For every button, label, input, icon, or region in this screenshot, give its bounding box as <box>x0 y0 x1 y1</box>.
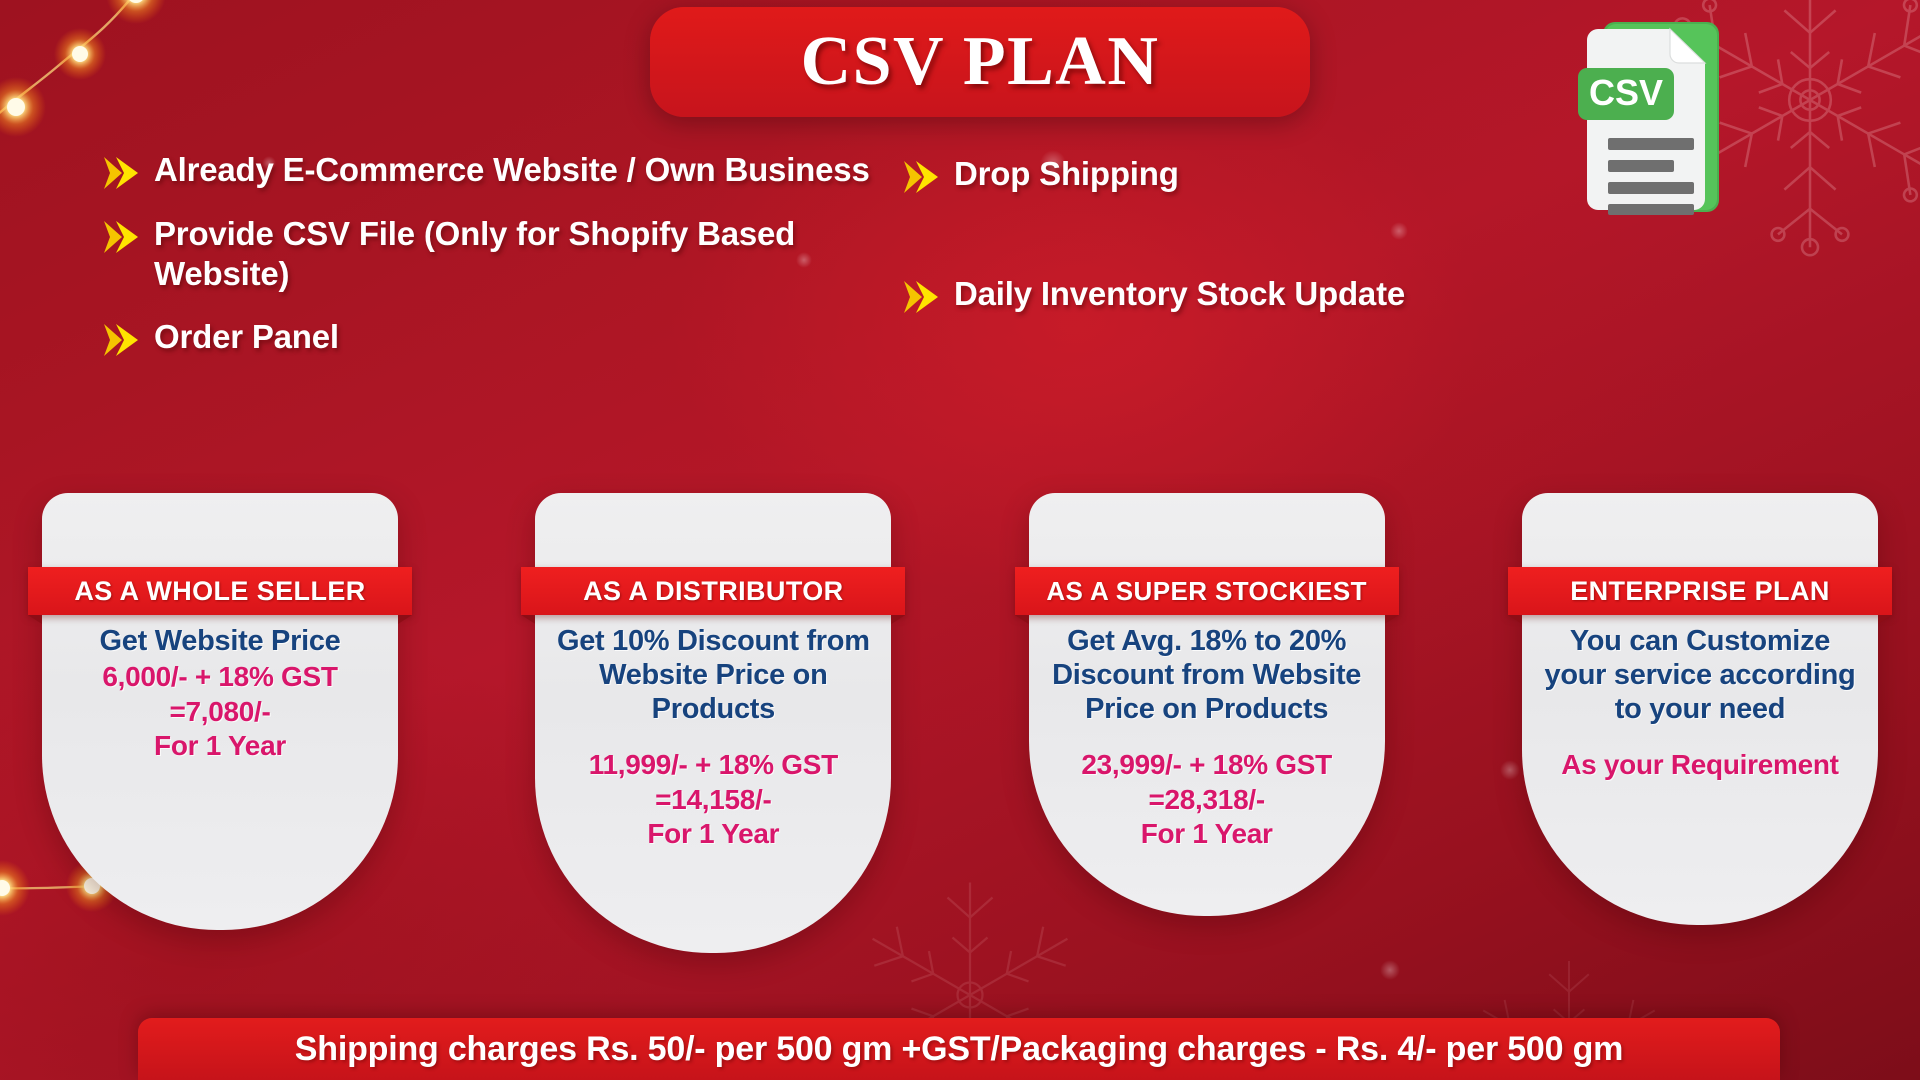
csv-badge-label: CSV <box>1589 72 1663 113</box>
plan-ribbon-label: AS A SUPER STOCKIEST <box>1046 576 1367 607</box>
plan-price-line: =14,158/- <box>549 784 877 817</box>
plan-ribbon-label: AS A DISTRIBUTOR <box>583 576 843 607</box>
feature-list: Already E-Commerce Website / Own Busines… <box>100 150 1700 394</box>
page-title: CSV PLAN <box>801 22 1160 102</box>
footer-bar: Shipping charges Rs. 50/- per 500 gm +GS… <box>138 1018 1780 1080</box>
double-chevron-right-icon <box>100 218 140 256</box>
plan-ribbon: ENTERPRISE PLAN <box>1508 567 1892 615</box>
bokeh-dot <box>1380 960 1400 980</box>
plan-card-list: AS A WHOLE SELLER Get Website Price 6,00… <box>0 493 1920 963</box>
plan-card-body: Get 10% Discount from Website Price on P… <box>535 625 891 851</box>
plan-price-line: 23,999/- + 18% GST <box>1043 749 1371 782</box>
plan-ribbon: AS A DISTRIBUTOR <box>521 567 905 615</box>
plan-price-line: As your Requirement <box>1536 749 1864 782</box>
plan-ribbon-label: ENTERPRISE PLAN <box>1570 576 1830 607</box>
plan-card-body: You can Customize your service according… <box>1522 625 1878 782</box>
plan-ribbon-label: AS A WHOLE SELLER <box>74 576 365 607</box>
page-title-banner: CSV PLAN <box>650 7 1310 117</box>
plan-headline: You can Customize your service according… <box>1536 625 1864 727</box>
feature-item: Drop Shipping <box>900 154 1720 196</box>
poster-canvas: CSV PLAN CSV <box>0 0 1920 1080</box>
feature-item: Provide CSV File (Only for Shopify Based… <box>100 214 880 295</box>
feature-item: Already E-Commerce Website / Own Busines… <box>100 150 880 192</box>
plan-card-body: Get Website Price 6,000/- + 18% GST =7,0… <box>42 625 398 763</box>
footer-text: Shipping charges Rs. 50/- per 500 gm +GS… <box>295 1030 1623 1069</box>
plan-price-line: For 1 Year <box>549 818 877 851</box>
plan-ribbon: AS A SUPER STOCKIEST <box>1015 567 1399 615</box>
plan-headline: Get Avg. 18% to 20% Discount from Websit… <box>1043 625 1371 727</box>
plan-price-line: For 1 Year <box>56 730 384 763</box>
double-chevron-right-icon <box>900 278 940 316</box>
plan-price-line: 11,999/- + 18% GST <box>549 749 877 782</box>
plan-card-super-stockiest[interactable]: AS A SUPER STOCKIEST Get Avg. 18% to 20%… <box>1029 493 1385 916</box>
double-chevron-right-icon <box>100 154 140 192</box>
feature-label: Drop Shipping <box>954 154 1179 194</box>
plan-price-line: 6,000/- + 18% GST <box>56 661 384 694</box>
plan-headline: Get Website Price <box>56 625 384 659</box>
double-chevron-right-icon <box>100 321 140 359</box>
plan-card-whole-seller[interactable]: AS A WHOLE SELLER Get Website Price 6,00… <box>42 493 398 930</box>
plan-card-body: Get Avg. 18% to 20% Discount from Websit… <box>1029 625 1385 851</box>
plan-price-line: For 1 Year <box>1043 818 1371 851</box>
feature-item: Order Panel <box>100 317 880 359</box>
plan-price-line: =7,080/- <box>56 696 384 729</box>
feature-item: Daily Inventory Stock Update <box>900 274 1720 316</box>
plan-card-enterprise[interactable]: ENTERPRISE PLAN You can Customize your s… <box>1522 493 1878 925</box>
plan-price-line: =28,318/- <box>1043 784 1371 817</box>
feature-label: Provide CSV File (Only for Shopify Based… <box>154 214 880 295</box>
feature-label: Already E-Commerce Website / Own Busines… <box>154 150 870 190</box>
double-chevron-right-icon <box>900 158 940 196</box>
feature-column-left: Already E-Commerce Website / Own Busines… <box>100 150 880 394</box>
plan-card-distributor[interactable]: AS A DISTRIBUTOR Get 10% Discount from W… <box>535 493 891 953</box>
feature-label: Order Panel <box>154 317 339 357</box>
feature-column-right: Drop Shipping Daily Inventory Stock Upda… <box>900 150 1720 394</box>
plan-headline: Get 10% Discount from Website Price on P… <box>549 625 877 727</box>
plan-ribbon: AS A WHOLE SELLER <box>28 567 412 615</box>
feature-label: Daily Inventory Stock Update <box>954 274 1405 314</box>
